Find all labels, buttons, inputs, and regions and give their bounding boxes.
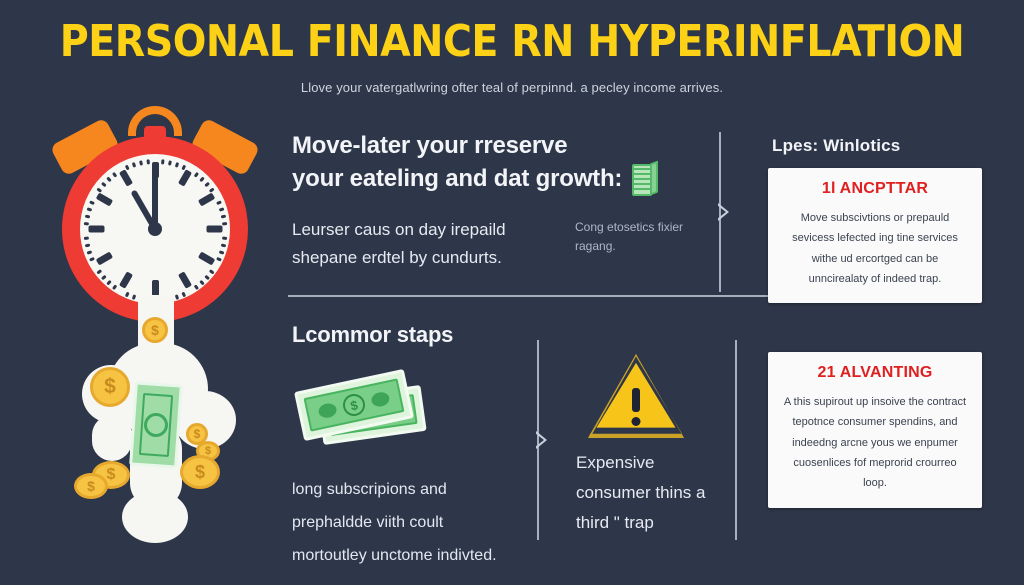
clock-hour-tick — [95, 192, 112, 206]
melting-money-puddle: $ $ $ $ $ $ $ — [56, 295, 256, 550]
clock-minute-tick — [161, 159, 165, 164]
card-title: 21 ALVANTING — [782, 364, 968, 382]
clock-minute-tick — [199, 280, 205, 286]
card-body: A this supirout up insoive the contract … — [782, 392, 968, 494]
clock-minute-tick — [199, 176, 205, 182]
top-heading-line-2: your eateling and dat growth: — [292, 163, 622, 195]
clock-minute-tick — [131, 162, 135, 168]
dollar-bill-melting-icon — [129, 381, 183, 468]
clock-hour-tick — [88, 226, 104, 233]
clock-minute-tick — [111, 284, 116, 290]
warning-block: Expensive consumer thins a third " trap — [576, 360, 716, 537]
clock-minute-tick — [221, 222, 226, 226]
money-stack-icon — [632, 162, 658, 196]
clock-minute-tick — [216, 257, 222, 262]
clock-hour-tick — [177, 271, 191, 288]
clock-minute-tick — [89, 200, 95, 205]
clock-minute-hand — [152, 173, 158, 229]
bottom-vertical-divider-2 — [728, 340, 744, 540]
clock-minute-tick — [204, 182, 210, 188]
clock-hour-tick — [152, 280, 159, 296]
coin-icon: $ — [142, 317, 168, 343]
coin-icon: $ — [180, 455, 220, 489]
page-title: Personal Finance rn Hyperinflation — [0, 16, 1024, 67]
clock-minute-tick — [204, 275, 210, 281]
clock-minute-tick — [86, 207, 92, 211]
top-block-heading: Move-later your rreserve your eateling a… — [292, 130, 702, 196]
warning-triangle-icon — [594, 360, 678, 432]
clock-minute-tick — [220, 215, 226, 219]
warning-text: Expensive consumer thins a third " trap — [576, 448, 716, 537]
card-title: 1l ANCPTTAR — [782, 180, 968, 198]
clock-minute-tick — [83, 237, 88, 241]
clock-minute-tick — [216, 200, 222, 205]
clock-minute-tick — [84, 243, 90, 247]
top-vertical-divider — [712, 132, 728, 292]
right-column-heading: Lpes: Winlotics — [772, 136, 900, 156]
clock-minute-tick — [106, 280, 112, 286]
bottom-block-body: long subscripions and prephaldde viith c… — [292, 474, 522, 572]
clock-minute-tick — [167, 160, 171, 166]
top-middle-block: Move-later your rreserve your eateling a… — [292, 130, 702, 272]
clock-minute-tick — [96, 269, 102, 274]
dollar-bills-icon: $ — [292, 378, 442, 442]
clock-minute-tick — [100, 182, 106, 188]
clock-hour-tick — [118, 271, 132, 288]
top-block-body: Leurser caus on day irepaild shepane erd… — [292, 216, 557, 272]
bottom-middle-block: Lcommor staps $ long subscripions and pr… — [292, 322, 522, 572]
infographic-poster: Personal Finance rn Hyperinflation Llove… — [0, 0, 1024, 585]
clock-minute-tick — [193, 172, 198, 178]
clock-minute-tick — [96, 187, 102, 192]
clock-minute-tick — [174, 162, 178, 168]
bottom-block-heading: Lcommor staps — [292, 322, 522, 348]
coin-icon: $ — [90, 367, 130, 407]
clock-face — [80, 154, 230, 304]
clock-hour-tick — [197, 192, 214, 206]
clock-minute-tick — [83, 222, 88, 226]
clock-hour-tick — [177, 169, 191, 186]
clock-minute-tick — [89, 257, 95, 262]
clock-minute-tick — [111, 172, 116, 178]
clock-minute-tick — [208, 269, 214, 274]
clock-minute-tick — [100, 275, 106, 281]
clock-minute-tick — [106, 176, 112, 182]
clock-minute-tick — [139, 160, 143, 166]
clock-minute-tick — [146, 159, 150, 164]
clock-minute-tick — [221, 237, 226, 241]
page-subtitle: Llove your vatergatlwring ofter teal of … — [0, 80, 1024, 95]
top-heading-line-1: Move-later your rreserve — [292, 130, 702, 162]
clock-hour-tick — [95, 251, 112, 265]
clock-minute-tick — [193, 284, 198, 290]
clock-hour-tick — [197, 251, 214, 265]
card-body: Move subscivtions or prepauld sevicess l… — [782, 208, 968, 289]
bottom-vertical-divider — [530, 340, 546, 540]
left-illustration: $ $ $ $ $ $ $ — [38, 100, 270, 550]
info-card[interactable]: 21 ALVANTING A this supirout up insoive … — [768, 352, 982, 508]
info-card[interactable]: 1l ANCPTTAR Move subscivtions or prepaul… — [768, 168, 982, 303]
clock-minute-tick — [86, 250, 92, 254]
coin-icon: $ — [74, 473, 108, 499]
clock-hour-tick — [118, 169, 132, 186]
alarm-clock-icon — [50, 108, 260, 323]
clock-minute-tick — [220, 243, 226, 247]
clock-minute-tick — [218, 250, 224, 254]
clock-minute-tick — [218, 207, 224, 211]
clock-hour-tick — [206, 226, 222, 233]
top-block-side-note: Cong etosetics fixier ragang. — [575, 216, 695, 255]
clock-center-pin — [148, 222, 162, 236]
clock-minute-tick — [84, 215, 90, 219]
